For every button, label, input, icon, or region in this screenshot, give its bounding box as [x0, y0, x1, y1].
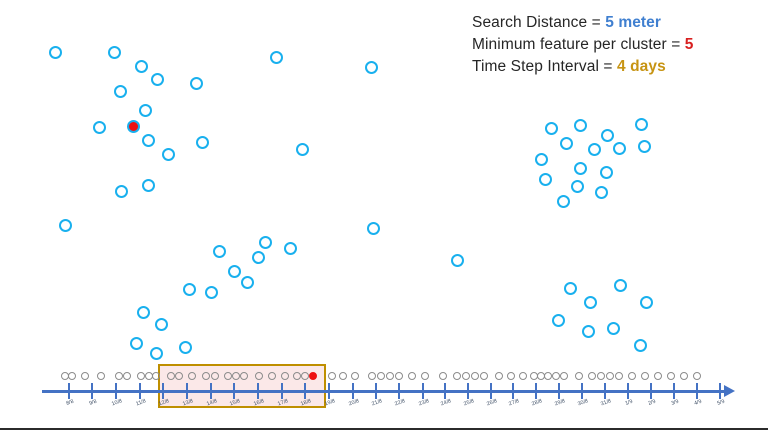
scatter-point	[296, 143, 309, 156]
timeline-dot	[641, 372, 649, 380]
timeline-tick-label: 23/8	[418, 398, 430, 407]
timeline-dot	[615, 372, 623, 380]
scatter-point	[205, 286, 218, 299]
scatter-point	[130, 337, 143, 350]
timeline-dot	[386, 372, 394, 380]
timeline-tick	[673, 383, 675, 399]
timeline-tick	[467, 383, 469, 399]
timeline-tick	[328, 383, 330, 399]
timeline-tick	[352, 383, 354, 399]
scatter-point	[451, 254, 464, 267]
scatter-point	[365, 61, 378, 74]
timeline-tick-label: 2/9	[647, 399, 656, 407]
timeline-tick-label: 28/8	[531, 398, 543, 407]
scatter-point	[241, 276, 254, 289]
timeline-dot	[480, 372, 488, 380]
scatter-point	[607, 322, 620, 335]
scatter-point	[614, 279, 627, 292]
timeline-tick-label: 10/8	[111, 398, 123, 407]
timeline-tick-label: 20/8	[348, 398, 360, 407]
scatter-point	[574, 119, 587, 132]
bottom-divider	[0, 428, 768, 430]
scatter-point	[582, 325, 595, 338]
scatter-point	[142, 134, 155, 147]
timeline-tick-label: 22/8	[394, 398, 406, 407]
timeline-dot	[97, 372, 105, 380]
timeline-tick	[581, 383, 583, 399]
timeline-dot	[507, 372, 515, 380]
timeline-dot	[421, 372, 429, 380]
timeline-tick	[115, 383, 117, 399]
timeline-axis-line	[42, 390, 726, 393]
scatter-point	[634, 339, 647, 352]
timeline-tick	[696, 383, 698, 399]
scatter-point	[49, 46, 62, 59]
timeline-tick-label: 9/8	[88, 399, 97, 407]
timeline-dot	[152, 372, 160, 380]
timeline-tick-label: 8/8	[65, 399, 74, 407]
scatter-point	[574, 162, 587, 175]
timeline-dot	[680, 372, 688, 380]
scatter-point	[93, 121, 106, 134]
timeline-dot	[377, 372, 385, 380]
timeline-dot	[255, 372, 263, 380]
timeline-tick-label: 3/9	[670, 399, 679, 407]
timeline-tick-label: 27/8	[508, 398, 520, 407]
scatter-point	[560, 137, 573, 150]
timeline-tick	[490, 383, 492, 399]
timeline-tick	[162, 383, 164, 399]
timeline-dot	[368, 372, 376, 380]
timeline-tick-label: 26/8	[486, 398, 498, 407]
timeline-tick	[422, 383, 424, 399]
timeline-tick	[233, 383, 235, 399]
timeline-tick	[650, 383, 652, 399]
timeline-tick-label: 29/8	[554, 398, 566, 407]
scatter-point	[367, 222, 380, 235]
scatter-point	[259, 236, 272, 249]
timeline-tick	[512, 383, 514, 399]
scatter-point-selected	[127, 120, 140, 133]
timeline-tick	[210, 383, 212, 399]
timeline-tick	[398, 383, 400, 399]
scatter-point	[600, 166, 613, 179]
timeline-tick	[257, 383, 259, 399]
scatter-point	[137, 306, 150, 319]
timeline-dot	[115, 372, 123, 380]
timeline-dot	[232, 372, 240, 380]
timeline-dot	[462, 372, 470, 380]
timeline-tick	[91, 383, 93, 399]
timeline-dot	[167, 372, 175, 380]
timeline-tick-label: 21/8	[371, 398, 383, 407]
scatter-point	[139, 104, 152, 117]
timeline-dot	[597, 372, 605, 380]
timeline-tick	[444, 383, 446, 399]
timeline-tick	[604, 383, 606, 399]
scatter-point	[196, 136, 209, 149]
timeline-dot	[453, 372, 461, 380]
timeline-dot	[495, 372, 503, 380]
timeline-dot	[552, 372, 560, 380]
scatter-point	[179, 341, 192, 354]
timeline-tick-label: 4/9	[693, 399, 702, 407]
scatter-point	[595, 186, 608, 199]
scatter-plot	[0, 0, 768, 360]
timeline-tick	[535, 383, 537, 399]
timeline-tick	[304, 383, 306, 399]
timeline-dot	[123, 372, 131, 380]
timeline-tick-label: 30/8	[577, 398, 589, 407]
timeline-dot	[281, 372, 289, 380]
scatter-point	[252, 251, 265, 264]
timeline-axis: 8/89/810/811/812/813/814/815/816/817/818…	[0, 358, 768, 420]
timeline-dot	[439, 372, 447, 380]
scatter-point	[564, 282, 577, 295]
scatter-point	[613, 142, 626, 155]
timeline-dot	[202, 372, 210, 380]
timeline-tick	[627, 383, 629, 399]
timeline-tick	[186, 383, 188, 399]
scatter-point	[284, 242, 297, 255]
timeline-dot	[351, 372, 359, 380]
scatter-point	[601, 129, 614, 142]
timeline-dot	[301, 372, 309, 380]
timeline-tick	[558, 383, 560, 399]
timeline-tick	[139, 383, 141, 399]
timeline-tick-label: 5/9	[716, 399, 725, 407]
scatter-point	[213, 245, 226, 258]
scatter-point	[635, 118, 648, 131]
timeline-dot	[81, 372, 89, 380]
scatter-point	[183, 283, 196, 296]
scatter-point	[190, 77, 203, 90]
scatter-point	[151, 73, 164, 86]
scatter-point	[162, 148, 175, 161]
timeline-tick-label: 1/9	[624, 399, 633, 407]
timeline-dot	[667, 372, 675, 380]
timeline-dot	[606, 372, 614, 380]
scatter-point	[638, 140, 651, 153]
timeline-dot	[328, 372, 336, 380]
timeline-dot	[519, 372, 527, 380]
timeline-dot	[544, 372, 552, 380]
scatter-point	[114, 85, 127, 98]
timeline-dot	[395, 372, 403, 380]
timeline-dot-selected	[309, 372, 317, 380]
timeline-dot	[240, 372, 248, 380]
timeline-dot	[588, 372, 596, 380]
timeline-tick-label: 25/8	[463, 398, 475, 407]
timeline-dot	[211, 372, 219, 380]
timeline-dot	[175, 372, 183, 380]
timeline-tick-label: 24/8	[440, 398, 452, 407]
timeline-dot	[293, 372, 301, 380]
timeline-tick	[68, 383, 70, 399]
timeline-tick	[719, 383, 721, 399]
timeline-dot	[224, 372, 232, 380]
scatter-point	[108, 46, 121, 59]
timeline-dot	[654, 372, 662, 380]
scatter-point	[142, 179, 155, 192]
scatter-point	[588, 143, 601, 156]
scatter-point	[270, 51, 283, 64]
scatter-point	[552, 314, 565, 327]
scatter-point	[584, 296, 597, 309]
timeline-dot	[137, 372, 145, 380]
timeline-dot	[560, 372, 568, 380]
timeline-dot	[408, 372, 416, 380]
scatter-point	[135, 60, 148, 73]
timeline-dot	[471, 372, 479, 380]
scatter-point	[535, 153, 548, 166]
timeline-dot	[268, 372, 276, 380]
timeline-dot	[693, 372, 701, 380]
scatter-point	[228, 265, 241, 278]
timeline-tick-label: 11/8	[135, 398, 147, 407]
timeline-dot	[575, 372, 583, 380]
scatter-point	[545, 122, 558, 135]
timeline-dot	[339, 372, 347, 380]
scatter-point	[539, 173, 552, 186]
slide-canvas: Search Distance = 5 meter Minimum featur…	[0, 0, 768, 435]
scatter-point	[155, 318, 168, 331]
timeline-dot	[188, 372, 196, 380]
scatter-point	[59, 219, 72, 232]
timeline-tick-label: 31/8	[600, 398, 612, 407]
timeline-tick	[281, 383, 283, 399]
timeline-axis-arrow-icon	[724, 385, 735, 397]
scatter-point	[115, 185, 128, 198]
timeline-dot	[628, 372, 636, 380]
timeline-dot	[68, 372, 76, 380]
scatter-point	[640, 296, 653, 309]
timeline-tick	[375, 383, 377, 399]
scatter-point	[557, 195, 570, 208]
scatter-point	[571, 180, 584, 193]
